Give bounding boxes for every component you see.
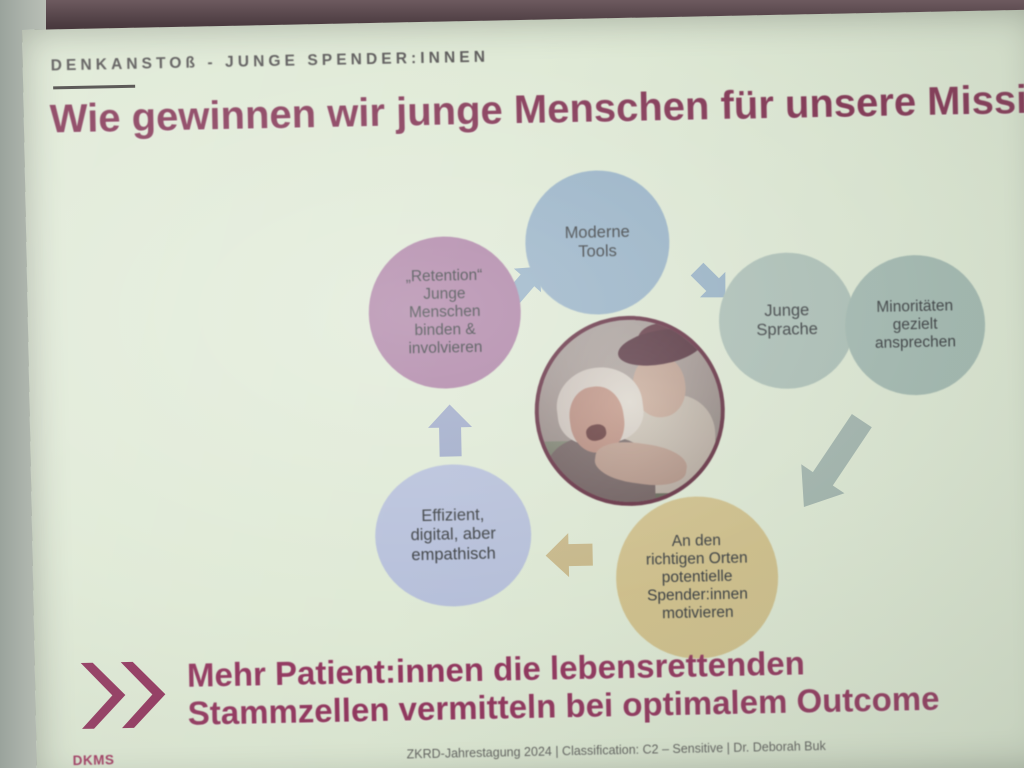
bubble-line: Moderne <box>564 223 629 242</box>
arrow-orte-to-effizient-icon <box>542 525 595 582</box>
arrow-effizient-to-retention-icon <box>424 401 477 460</box>
bubble-moderne-tools[interactable]: Moderne Tools <box>524 169 671 316</box>
bubble-line: binden & <box>414 321 476 339</box>
bubble-line: involvieren <box>408 339 482 357</box>
bubble-richtige-orte[interactable]: An den richtigen Orten potentielle Spend… <box>615 495 780 660</box>
bubble-line: Tools <box>578 242 617 261</box>
bubble-line: ansprechen <box>875 333 956 352</box>
bubble-line: „Retention“ <box>406 267 483 286</box>
bubble-line: motivieren <box>662 604 734 622</box>
bubble-line: digital, aber <box>410 525 496 545</box>
bubble-minoritaeten[interactable]: Minoritäten gezielt ansprechen <box>844 254 987 397</box>
photo-vignette <box>537 318 723 504</box>
bubble-line: Minoritäten <box>876 297 953 316</box>
double-chevron-right-icon <box>77 655 189 735</box>
bubble-line: Junge <box>423 285 466 303</box>
room-photo: DENKANSTOß - JUNGE SPENDER:INNEN Wie gew… <box>0 0 1024 768</box>
bubble-line: Effizient, <box>421 506 484 525</box>
presentation-slide: DENKANSTOß - JUNGE SPENDER:INNEN Wie gew… <box>22 10 1024 768</box>
bubble-junge-sprache[interactable]: Junge Sprache <box>718 251 857 390</box>
closing-statement: Mehr Patient:innen die lebensrettenden S… <box>187 642 940 732</box>
bubble-effizient[interactable]: Effizient, digital, aber empathisch <box>374 463 533 608</box>
bubble-line: richtigen Orten <box>646 550 748 569</box>
arrow-sprache-to-orte-icon <box>774 405 892 523</box>
bubble-line: An den <box>672 532 721 550</box>
bubble-retention[interactable]: „Retention“ Junge Menschen binden & invo… <box>367 235 522 390</box>
bubble-line: Menschen <box>409 303 481 321</box>
bubble-line: gezielt <box>893 316 938 334</box>
bubble-line: Junge <box>764 301 809 320</box>
center-photo <box>533 314 727 508</box>
bubble-line: empathisch <box>411 544 496 564</box>
bubble-line: Spender:innen <box>647 586 748 605</box>
dkms-logo: DKMS <box>73 752 115 768</box>
bubble-line: potentielle <box>662 568 733 586</box>
bubble-line: Sprache <box>756 320 818 339</box>
